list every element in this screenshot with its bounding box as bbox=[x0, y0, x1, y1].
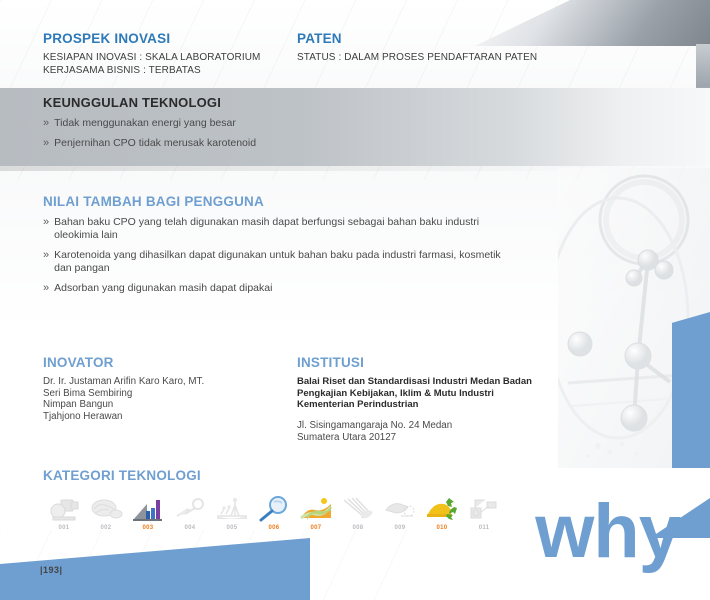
institusi-name-line: Pengkajian Kebijakan, Iklim & Mutu Indus… bbox=[297, 388, 562, 400]
kategori-icon-001[interactable]: 001 bbox=[43, 494, 85, 531]
prospek-title: PROSPEK INOVASI bbox=[43, 31, 293, 46]
nilai-tambah-item: » Adsorban yang digunakan masih dapat di… bbox=[43, 282, 513, 295]
content-layer: PROSPEK INOVASI KESIAPAN INOVASI : SKALA… bbox=[0, 0, 710, 600]
nilai-tambah-title: NILAI TAMBAH BAGI PENGGUNA bbox=[43, 194, 513, 209]
inovator-name: Dr. Ir. Justaman Arifin Karo Karo, MT. bbox=[43, 376, 278, 388]
bullet-marker-icon: » bbox=[43, 137, 49, 150]
kategori-icon-number: 009 bbox=[379, 525, 421, 531]
kategori-icon-number: 007 bbox=[295, 525, 337, 531]
transport-icon bbox=[379, 494, 421, 522]
institusi-name-line: Kementerian Perindustrian bbox=[297, 399, 562, 411]
kategori-icon-003[interactable]: 003 bbox=[127, 494, 169, 531]
microscope-icon bbox=[43, 494, 85, 522]
section-kategori-teknologi: KATEGORI TEKNOLOGI 001002003004005006007… bbox=[43, 468, 513, 531]
kategori-title: KATEGORI TEKNOLOGI bbox=[43, 468, 513, 483]
institusi-address-line: Sumatera Utara 20127 bbox=[297, 432, 562, 444]
keunggulan-item: » Tidak menggunakan energi yang besar bbox=[43, 117, 473, 130]
kategori-icon-number: 010 bbox=[421, 525, 463, 531]
kategori-icon-007[interactable]: 007 bbox=[295, 494, 337, 531]
kategori-icon-number: 001 bbox=[43, 525, 85, 531]
bullet-marker-icon: » bbox=[43, 216, 49, 229]
kategori-icon-002[interactable]: 002 bbox=[85, 494, 127, 531]
section-inovator: INOVATOR Dr. Ir. Justaman Arifin Karo Ka… bbox=[43, 355, 278, 422]
agriculture-icon bbox=[295, 494, 337, 522]
bullet-marker-icon: » bbox=[43, 282, 49, 295]
inovator-name: Seri Bima Sembiring bbox=[43, 388, 278, 400]
nilai-tambah-item: » Bahan baku CPO yang telah digunakan ma… bbox=[43, 216, 513, 242]
institusi-name-line: Balai Riset dan Standardisasi Industri M… bbox=[297, 376, 562, 388]
kategori-icon-005[interactable]: 005 bbox=[211, 494, 253, 531]
nilai-tambah-item-text: Karotenoida yang dihasilkan dapat diguna… bbox=[54, 249, 513, 275]
prospek-line-1: KESIAPAN INOVASI : SKALA LABORATORIUM bbox=[43, 51, 293, 64]
paten-title: PATEN bbox=[297, 31, 597, 46]
page-number: |193| bbox=[40, 565, 63, 575]
offshore-rig-icon bbox=[211, 494, 253, 522]
kategori-icon-010[interactable]: 010 bbox=[421, 494, 463, 531]
safety-recycle-icon bbox=[421, 494, 463, 522]
kategori-icon-006[interactable]: 006 bbox=[253, 494, 295, 531]
inovator-title: INOVATOR bbox=[43, 355, 278, 370]
bullet-marker-icon: » bbox=[43, 117, 49, 130]
kategori-icon-number: 003 bbox=[127, 525, 169, 531]
kategori-icon-number: 005 bbox=[211, 525, 253, 531]
machinery-icon bbox=[463, 494, 505, 522]
section-nilai-tambah: NILAI TAMBAH BAGI PENGGUNA » Bahan baku … bbox=[43, 194, 513, 295]
energy-bolt-icon bbox=[169, 494, 211, 522]
nilai-tambah-item-text: Bahan baku CPO yang telah digunakan masi… bbox=[54, 216, 513, 242]
kategori-icon-strip: 001002003004005006007008009010011 bbox=[43, 494, 513, 531]
textile-icon bbox=[337, 494, 379, 522]
page-canvas: why PROSPEK INOVASI KESIAPAN INOVASI : S… bbox=[0, 0, 710, 600]
kategori-icon-004[interactable]: 004 bbox=[169, 494, 211, 531]
brain-food-icon bbox=[85, 494, 127, 522]
institusi-title: INSTITUSI bbox=[297, 355, 562, 370]
kategori-icon-number: 011 bbox=[463, 525, 505, 531]
paten-status: STATUS : DALAM PROSES PENDAFTARAN PATEN bbox=[297, 51, 597, 64]
kategori-icon-number: 006 bbox=[253, 525, 295, 531]
section-prospek-inovasi: PROSPEK INOVASI KESIAPAN INOVASI : SKALA… bbox=[43, 31, 293, 77]
kategori-icon-011[interactable]: 011 bbox=[463, 494, 505, 531]
section-keunggulan-teknologi: KEUNGGULAN TEKNOLOGI » Tidak menggunakan… bbox=[43, 95, 473, 150]
factory-icon bbox=[127, 494, 169, 522]
prospek-line-2: KERJASAMA BISNIS : TERBATAS bbox=[43, 64, 293, 77]
institusi-address-line: Jl. Sisingamangaraja No. 24 Medan bbox=[297, 420, 562, 432]
kategori-icon-number: 008 bbox=[337, 525, 379, 531]
nilai-tambah-item-text: Adsorban yang digunakan masih dapat dipa… bbox=[54, 282, 272, 295]
keunggulan-title: KEUNGGULAN TEKNOLOGI bbox=[43, 95, 473, 110]
bullet-marker-icon: » bbox=[43, 249, 49, 262]
inovator-name: Tjahjono Herawan bbox=[43, 411, 278, 423]
kategori-icon-008[interactable]: 008 bbox=[337, 494, 379, 531]
nilai-tambah-item: » Karotenoida yang dihasilkan dapat digu… bbox=[43, 249, 513, 275]
kategori-icon-009[interactable]: 009 bbox=[379, 494, 421, 531]
section-institusi: INSTITUSI Balai Riset dan Standardisasi … bbox=[297, 355, 562, 444]
kategori-icon-number: 002 bbox=[85, 525, 127, 531]
kategori-icon-number: 004 bbox=[169, 525, 211, 531]
inovator-name: Nimpan Bangun bbox=[43, 399, 278, 411]
keunggulan-item: » Penjernihan CPO tidak merusak karoteno… bbox=[43, 137, 473, 150]
magnifier-icon bbox=[253, 494, 295, 522]
section-paten: PATEN STATUS : DALAM PROSES PENDAFTARAN … bbox=[297, 31, 597, 64]
keunggulan-item-text: Tidak menggunakan energi yang besar bbox=[54, 117, 236, 130]
keunggulan-item-text: Penjernihan CPO tidak merusak karotenoid bbox=[54, 137, 256, 150]
